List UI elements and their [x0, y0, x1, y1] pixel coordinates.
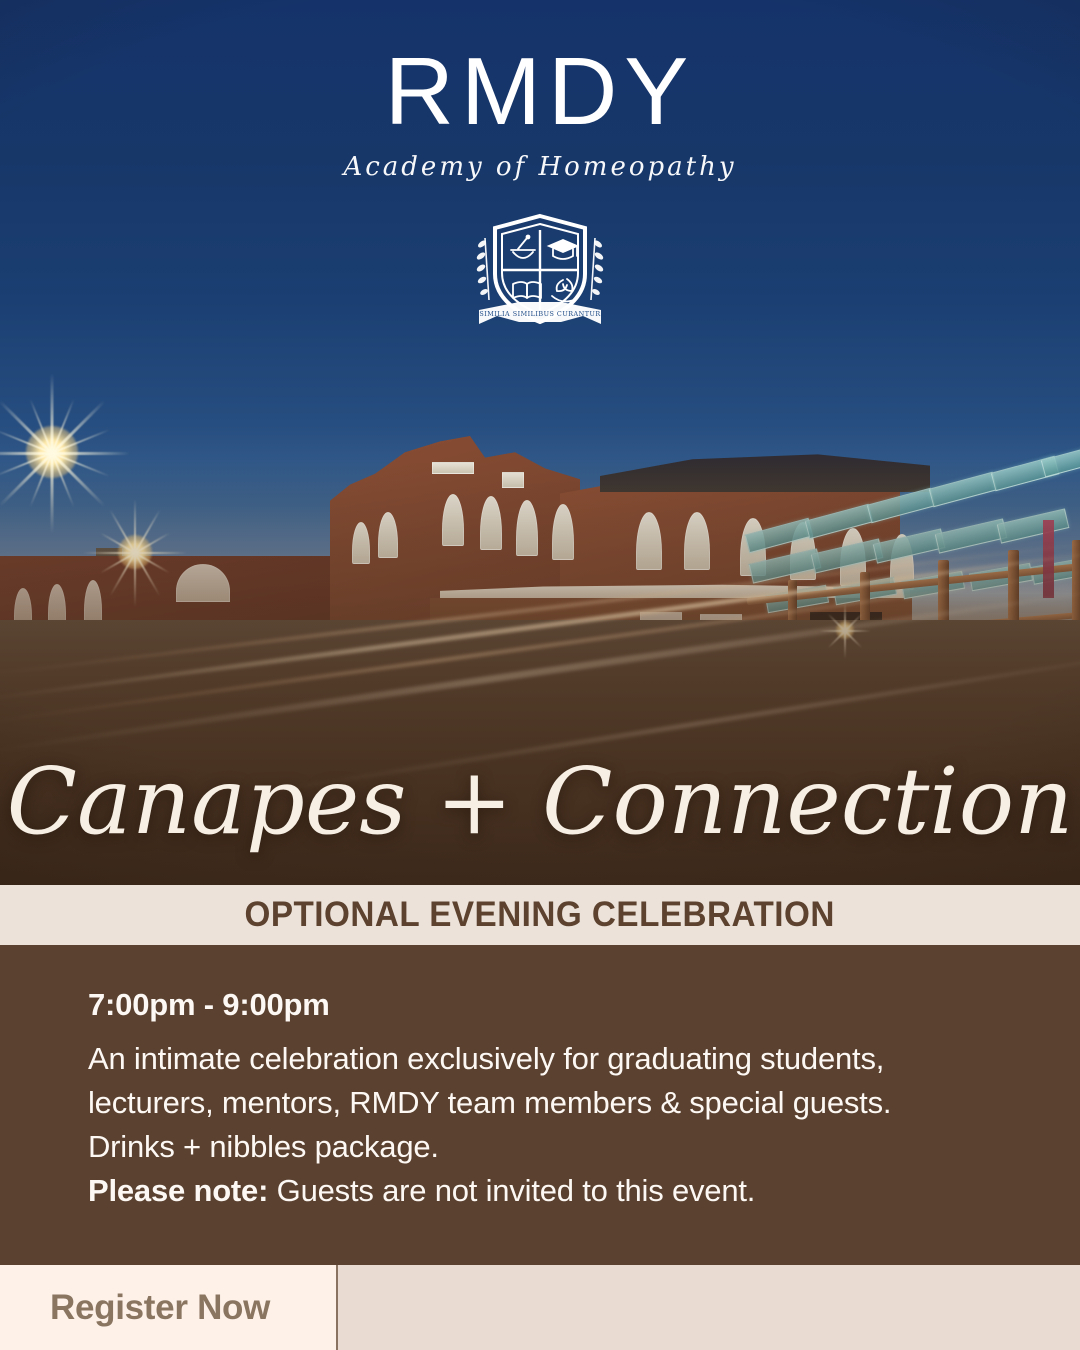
footer-filler	[338, 1265, 1080, 1350]
event-description-line-2: lecturers, mentors, RMDY team members & …	[88, 1081, 1020, 1125]
event-flyer: RMDY Academy of Homeopathy	[0, 0, 1080, 1350]
event-details-panel: 7:00pm - 9:00pm An intimate celebration …	[0, 945, 1080, 1265]
crest-motto: SIMILIA SIMILIBUS CURANTUR	[479, 310, 600, 318]
academy-crest-icon: SIMILIA SIMILIBUS CURANTUR	[457, 200, 623, 340]
subtitle-text: OPTIONAL EVENING CELEBRATION	[245, 895, 835, 935]
event-note-line: Please note: Guests are not invited to t…	[88, 1169, 1020, 1213]
register-now-label: Register Now	[50, 1288, 270, 1328]
register-now-button[interactable]: Register Now	[0, 1265, 338, 1350]
brand-tagline: Academy of Homeopathy	[0, 152, 1080, 182]
footer-bar: Register Now	[0, 1265, 1080, 1350]
subtitle-band: OPTIONAL EVENING CELEBRATION	[0, 885, 1080, 945]
page-title: Canapes + Connection	[0, 756, 1080, 848]
note-text: Guests are not invited to this event.	[277, 1173, 756, 1208]
brand-logo: RMDY Academy of Homeopathy	[0, 0, 1080, 345]
event-description-line-1: An intimate celebration exclusively for …	[88, 1037, 1020, 1081]
event-time: 7:00pm - 9:00pm	[88, 987, 1020, 1023]
brand-wordmark: RMDY	[0, 44, 1080, 140]
event-package-line: Drinks + nibbles package.	[88, 1125, 1020, 1169]
note-label: Please note:	[88, 1173, 268, 1208]
